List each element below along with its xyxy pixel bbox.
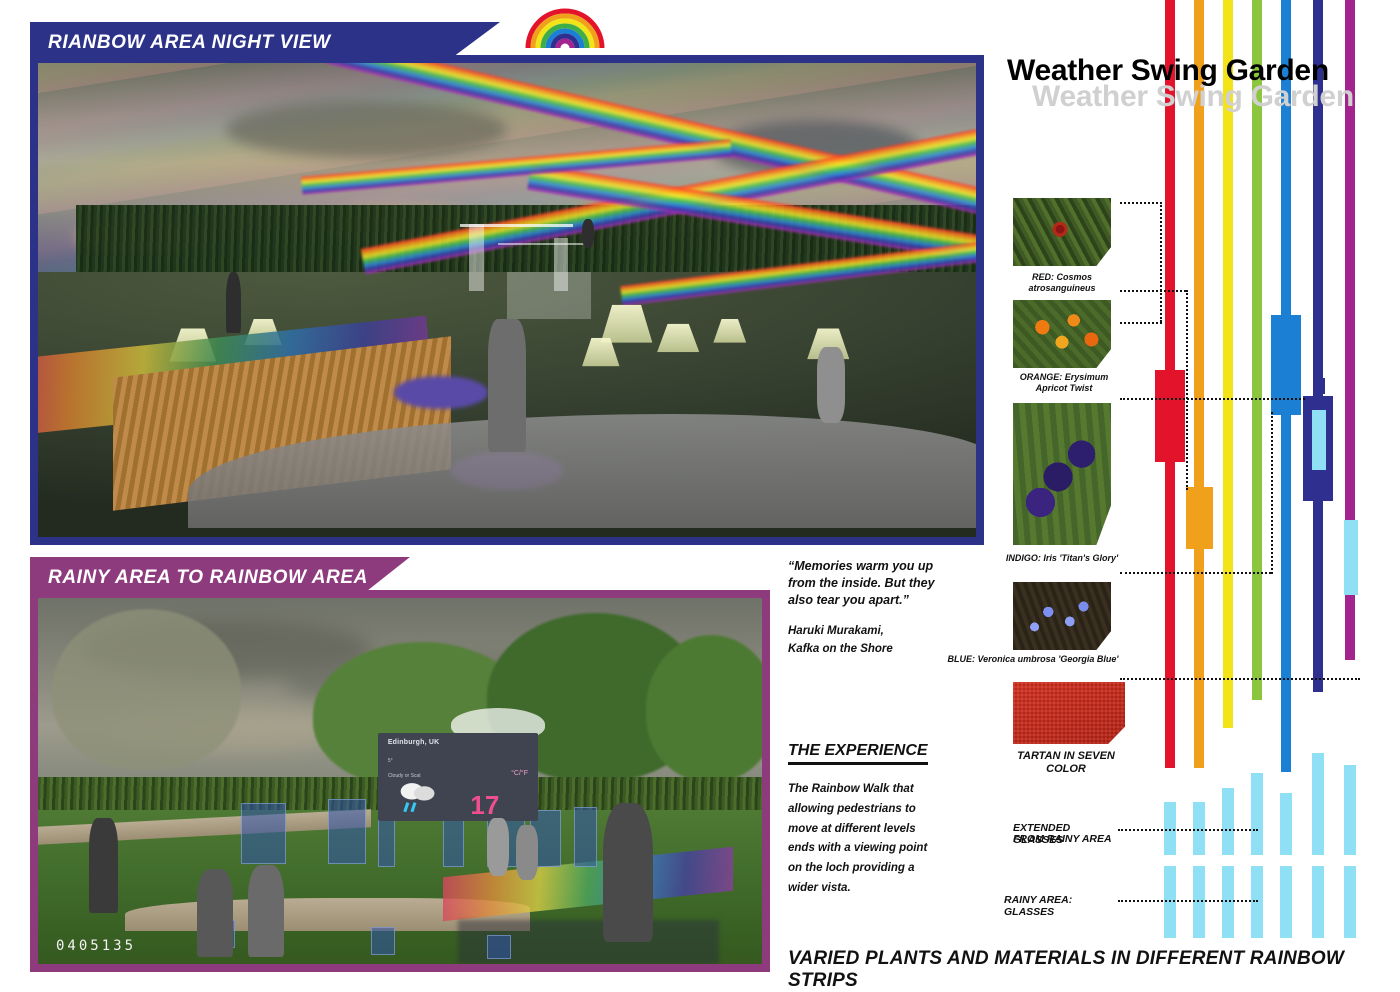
leader-indigo — [1120, 398, 1305, 400]
glass-lower-blue — [1280, 866, 1292, 938]
plant-label-orange: ORANGE: Erysimum Apricot Twist — [1010, 372, 1118, 393]
rainbow-icon — [522, 2, 608, 48]
glass-lower-indigo — [1312, 866, 1324, 938]
glass-upper-violet — [1344, 765, 1356, 855]
student-id: 0405135 — [56, 938, 136, 954]
block-orange — [1186, 487, 1213, 549]
glass-upper-indigo — [1312, 753, 1324, 855]
leader-blue-v — [1271, 412, 1273, 574]
block-red — [1155, 370, 1185, 462]
glass-lower-violet — [1344, 866, 1356, 938]
strip-orange — [1194, 0, 1204, 768]
banner-rainy-label: RAINY AREA TO RAINBOW AREA — [48, 567, 368, 589]
quote-block: “Memories warm you up from the inside. B… — [788, 558, 938, 658]
weather-line2: 5° — [388, 758, 393, 764]
block-blue — [1271, 315, 1301, 415]
leader-glass-upper — [1118, 829, 1258, 831]
weather-city: Edinburgh, UK — [388, 739, 440, 746]
weather-unit: °C/°F — [511, 770, 528, 777]
material-label-tartan: TARTAN IN SEVEN COLOR — [996, 750, 1136, 776]
glass-upper-green — [1251, 773, 1263, 855]
experience-title: THE EXPERIENCE — [788, 742, 928, 765]
leader-orange-v — [1186, 290, 1188, 490]
leader-red-2 — [1120, 322, 1162, 324]
weather-temperature: 17 — [470, 792, 499, 818]
rainbow-strip-diagram — [1140, 0, 1400, 990]
glass-label-extended-line2: FROM RAINY AREA — [1013, 833, 1117, 845]
bottom-caption: VARIED PLANTS AND MATERIALS IN DIFFERENT… — [788, 948, 1400, 992]
leader-blue — [1120, 572, 1271, 574]
quote-author: Haruki Murakami, — [788, 623, 938, 640]
plant-label-red: RED: Cosmos atrosanguineus — [1000, 272, 1124, 293]
block-glass-accent-2 — [1344, 520, 1358, 595]
leader-red — [1120, 202, 1162, 204]
block-glass-accent-1 — [1312, 410, 1326, 470]
plant-photo-blue — [1013, 582, 1111, 650]
rainy-view-render: Edinburgh, UK 5° Cloudy or Scat 17 °C/°F… — [38, 598, 762, 964]
glass-label-rainy: RAINY AREA: GLASSES — [1004, 894, 1116, 919]
plant-photo-indigo — [1013, 403, 1111, 545]
night-view-render-frame — [30, 55, 984, 545]
weather-display-sign: Edinburgh, UK 5° Cloudy or Scat 17 °C/°F — [378, 733, 537, 821]
plant-photo-orange — [1013, 300, 1111, 368]
block-indigo-small — [1313, 378, 1325, 394]
presentation-board: RIANBOW AREA NIGHT VIEW — [0, 0, 1400, 990]
banner-night-label: RIANBOW AREA NIGHT VIEW — [48, 32, 331, 54]
plant-photo-red — [1013, 198, 1111, 266]
glass-upper-blue — [1280, 793, 1292, 855]
night-view-render — [38, 63, 976, 537]
glass-lower-green — [1251, 866, 1263, 938]
plant-label-blue: BLUE: Veronica umbrosa 'Georgia Blue' — [938, 654, 1128, 665]
plant-label-indigo: INDIGO: Iris 'Titan's Glory' — [996, 553, 1128, 564]
rainy-view-render-frame: Edinburgh, UK 5° Cloudy or Scat 17 °C/°F… — [30, 590, 770, 972]
leader-glass-lower — [1118, 900, 1258, 902]
glass-lower-orange — [1193, 866, 1205, 938]
glass-upper-yellow — [1222, 788, 1234, 855]
glass-lower-red — [1164, 866, 1176, 938]
leader-red-v — [1160, 202, 1162, 322]
leader-tartan — [1120, 678, 1360, 680]
leader-orange — [1120, 290, 1186, 292]
glass-lower-yellow — [1222, 866, 1234, 938]
experience-body: The Rainbow Walk that allowing pedestria… — [788, 780, 940, 899]
material-swatch-tartan — [1013, 682, 1125, 744]
block-violet-lower — [1345, 600, 1355, 660]
quote-source: Kafka on the Shore — [788, 641, 938, 658]
quote-text: “Memories warm you up from the inside. B… — [788, 558, 938, 609]
rain-cloud-icon — [391, 777, 445, 814]
page-title: Weather Swing Garden — [1007, 54, 1329, 88]
